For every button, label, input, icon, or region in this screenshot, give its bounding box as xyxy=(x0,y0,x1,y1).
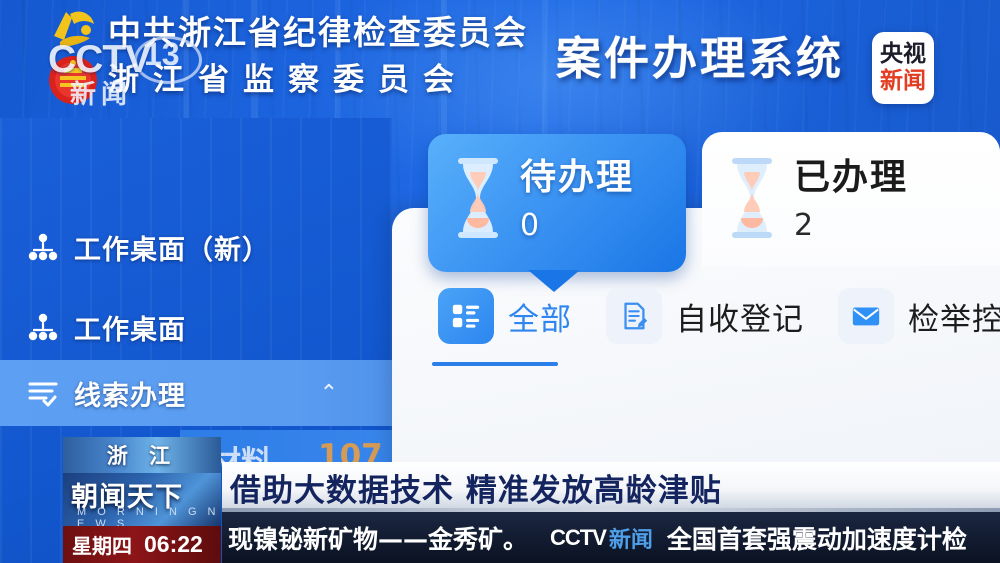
sidebar-item-label: 工作桌面（新） xyxy=(74,228,270,267)
lower-third-block: 浙 江 朝闻天下 M O R N I N G N E W S 星期四 06:22 xyxy=(63,437,221,563)
clock-label: 06:22 xyxy=(144,531,203,558)
program-banner: 朝闻天下 M O R N I N G N E W S xyxy=(63,473,221,526)
cctv-news-corner-logo: 央视 新闻 xyxy=(872,32,934,104)
status-card-done[interactable]: 已办理 2 xyxy=(702,134,1000,266)
status-card-count: 2 xyxy=(794,208,908,243)
status-card-text: 已办理 2 xyxy=(794,148,908,243)
headline-bar: 借助大数据技术 精准发放高龄津贴 xyxy=(222,462,1000,512)
list-grid-icon xyxy=(438,288,494,344)
sub-tab-bar: 全部 自收登记 检举控 xyxy=(438,288,1000,344)
ticker-left-text: 现镍铋新矿物——金秀矿。 xyxy=(228,520,528,556)
tab-label: 自收登记 xyxy=(676,294,804,339)
active-tab-underline xyxy=(432,362,558,366)
sidebar-item-label: 工作桌面 xyxy=(74,308,186,347)
status-card-label: 待办理 xyxy=(520,148,634,200)
tv-broadcast-screenshot: 中共浙江省纪律检查委员会 浙江省监察委员会 案件办理系统 工作桌面（新） xyxy=(0,0,1000,563)
province-banner: 浙 江 xyxy=(63,437,221,473)
hourglass-icon xyxy=(450,156,506,240)
ticker-right-text: 全国首套强震动加速度计检 xyxy=(667,520,967,556)
news-ticker: 现镍铋新矿物——金秀矿。 CCTV 新闻 全国首套强震动加速度计检 xyxy=(222,512,1000,563)
status-card-label: 已办理 xyxy=(794,148,908,200)
ticker-logo-cctv: CCTV xyxy=(550,525,606,551)
cctv13-watermark: CCTV 13 新闻 xyxy=(48,38,208,104)
tab-label: 检举控 xyxy=(908,294,1000,339)
status-card-text: 待办理 0 xyxy=(520,148,634,243)
sidebar-item-workdesk[interactable]: 工作桌面 xyxy=(0,294,392,360)
document-edit-icon xyxy=(606,288,662,344)
status-card-count: 0 xyxy=(520,208,634,243)
chevron-up-icon[interactable]: ⌃ xyxy=(320,380,338,406)
weekday-label: 星期四 xyxy=(72,530,132,559)
system-title: 案件办理系统 xyxy=(556,22,844,87)
time-banner: 星期四 06:22 xyxy=(63,526,221,563)
ticker-logo-news: 新闻 xyxy=(609,522,653,554)
corner-logo-line2: 新闻 xyxy=(880,70,926,93)
tab-all[interactable]: 全部 xyxy=(438,288,572,344)
tab-report-complaint[interactable]: 检举控 xyxy=(838,288,1000,344)
status-card-pending[interactable]: 待办理 0 xyxy=(428,134,686,272)
sitemap-icon xyxy=(26,310,60,344)
province-label: 浙 江 xyxy=(107,440,177,470)
watermark-news-label: 新闻 xyxy=(70,74,132,111)
sidebar-item-label: 线索办理 xyxy=(74,374,186,413)
tab-self-registration[interactable]: 自收登记 xyxy=(606,288,804,344)
corner-logo-line1: 央视 xyxy=(880,43,926,66)
headline-text: 借助大数据技术 精准发放高龄津贴 xyxy=(230,465,722,510)
sidebar-item-workdesk-new[interactable]: 工作桌面（新） xyxy=(0,214,392,280)
list-check-icon xyxy=(26,376,60,410)
sidebar-item-clue-processing[interactable]: 线索办理 ⌃ xyxy=(0,360,392,426)
ticker-cctv-news-logo: CCTV 新闻 xyxy=(550,522,653,554)
envelope-icon xyxy=(838,288,894,344)
tab-label: 全部 xyxy=(508,294,572,339)
hourglass-icon xyxy=(724,156,780,240)
watermark-number: 13 xyxy=(144,36,180,73)
sitemap-icon xyxy=(26,230,60,264)
